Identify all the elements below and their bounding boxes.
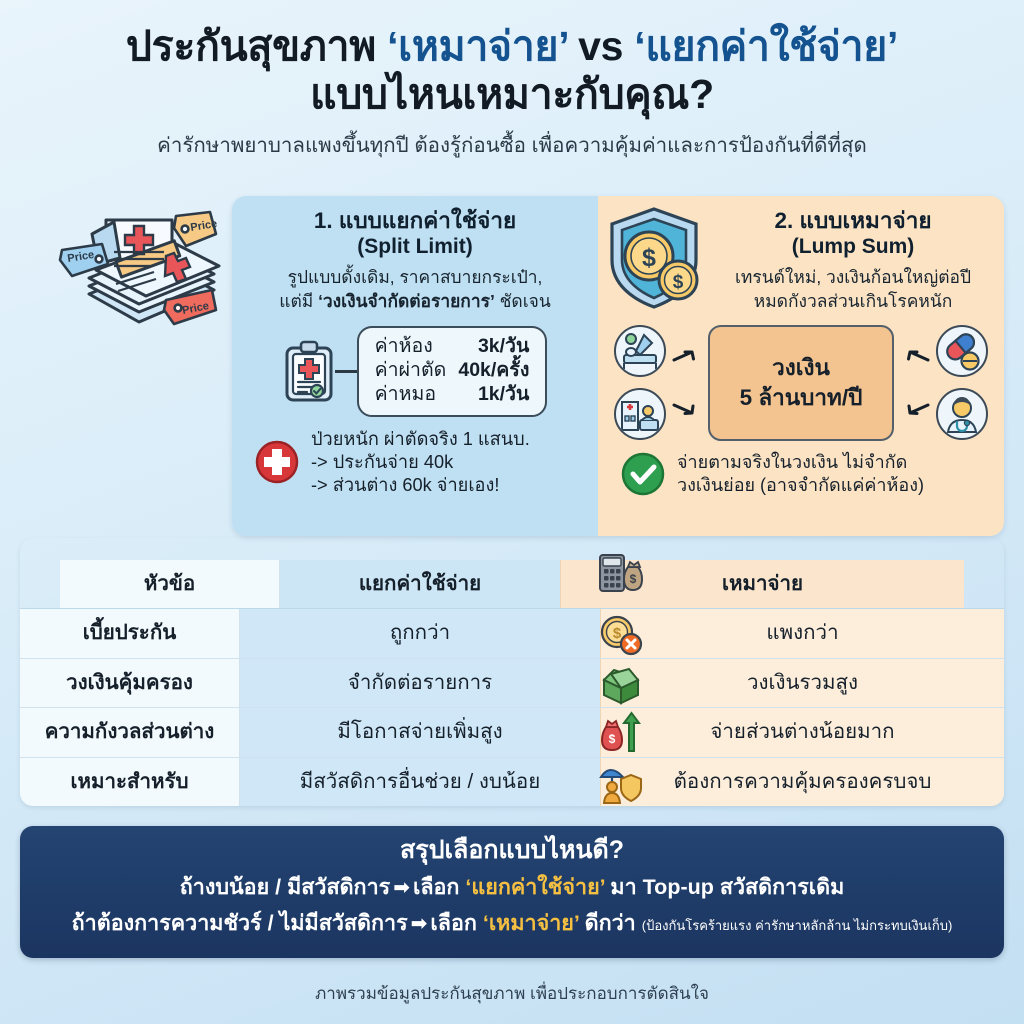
left-warning-text: ป่วยหนัก ผ่าตัดจริง 1 แสนบ. -> ประกันจ่า… (311, 428, 530, 497)
row-topic: เหมาะสำหรับ (20, 758, 240, 806)
row-split-value: มีสวัสดิการอื่นช่วย / งบน้อย (240, 758, 600, 806)
sum-box-line-2: 5 ล้านบาท/ปี (740, 383, 863, 412)
row-topic: เบี้ยประกัน (20, 609, 240, 657)
doctor-icon (936, 388, 988, 440)
pills-icon (936, 325, 988, 377)
row-lump-value: จ่ายส่วนต่างน้อยมาก (600, 708, 1004, 756)
limit-label-room: ค่าห้อง (375, 335, 459, 359)
title-highlight-split-limit: ‘แยกค่าใช้จ่าย’ (634, 23, 898, 69)
summary-l2-condition: ถ้าต้องการความชัวร์ / ไม่มีสวัสดิการ (72, 911, 408, 935)
row-topic: วงเงินคุ้มครอง (20, 659, 240, 707)
panel-left-title-th: 1. แบบแยกค่าใช้จ่าย (314, 208, 516, 233)
desc2-post: ชัดเจน (495, 291, 551, 311)
panel-right-desc-line2: หมดกังวลส่วนเกินโรคหนัก (718, 290, 988, 313)
limit-box: ค่าห้อง 3k/วัน ค่าผ่าตัด 40k/ครั้ง ค่าหม… (357, 326, 548, 417)
table-header-topic: หัวข้อ (60, 560, 280, 608)
desc2-bold: ‘วงเงินจำกัดต่อรายการ’ (318, 291, 495, 311)
arrow-left-icon (900, 399, 930, 419)
infographic-page: ประกันสุขภาพ ‘เหมาจ่าย’ vs ‘แยกค่าใช้จ่า… (0, 0, 1024, 1024)
table-row: ความกังวลส่วนต่าง มีโอกาสจ่ายเพิ่มสูง จ่… (20, 708, 1004, 757)
panel-left-title: 1. แบบแยกค่าใช้จ่าย (Split Limit) (248, 208, 582, 259)
summary-l2-action: เลือก (430, 911, 482, 935)
page-title-line-1: ประกันสุขภาพ ‘เหมาจ่าย’ vs ‘แยกค่าใช้จ่า… (40, 22, 984, 70)
lump-sum-flow-diagram: วงเงิน 5 ล้านบาท/ปี (614, 325, 988, 441)
title-part-1: ประกันสุขภาพ (126, 23, 387, 69)
medical-bills-icon: Price Price Price (54, 202, 224, 352)
panel-right-description: เทรนด์ใหม่, วงเงินก้อนใหญ่ต่อปี หมดกังวล… (718, 266, 988, 312)
summary-title: สรุปเลือกแบบไหนดี? (38, 835, 986, 866)
panel-right-title-th: 2. แบบเหมาจ่าย (774, 208, 931, 233)
arrow-right-icon: ➡ (408, 913, 431, 935)
summary-line-2: ถ้าต้องการความชัวร์ / ไม่มีสวัสดิการ➡เลื… (38, 910, 986, 938)
svg-text:$: $ (642, 244, 656, 272)
flow-right-icons (936, 325, 988, 440)
title-vs: vs (568, 23, 634, 69)
summary-l2-tail: ดีกว่า (579, 911, 641, 935)
table-row: เหมาะสำหรับ มีสวัสดิการอื่นช่วย / งบน้อย… (20, 758, 1004, 806)
limit-value-surgery: 40k/ครั้ง (458, 359, 529, 383)
panel-split-limit: 1. แบบแยกค่าใช้จ่าย (Split Limit) รูปแบบ… (232, 196, 598, 536)
limit-value-doctor: 1k/วัน (458, 383, 529, 407)
row-split-value: ถูกกว่า (240, 609, 600, 657)
arrow-left-icon (900, 346, 930, 366)
comparison-table: หัวข้อ แยกค่าใช้จ่าย เหมาจ่าย $ (20, 538, 1004, 806)
medical-cross-circle-icon (254, 439, 300, 485)
summary-box: สรุปเลือกแบบไหนดี? ถ้างบน้อย / มีสวัสดิก… (20, 826, 1004, 958)
right-benefit-note: จ่ายตามจริงในวงเงิน ไม่จำกัด วงเงินย่อย … (614, 451, 988, 497)
panel-right-desc-line1: เทรนด์ใหม่, วงเงินก้อนใหญ่ต่อปี (718, 266, 988, 289)
flow-left-icons (614, 325, 666, 440)
title-highlight-lump-sum: ‘เหมาจ่าย’ (387, 23, 568, 69)
connector-line (335, 370, 357, 373)
warning-line-1: ป่วยหนัก ผ่าตัดจริง 1 แสนบ. (311, 428, 530, 451)
summary-line-1: ถ้างบน้อย / มีสวัสดิการ➡เลือก ‘แยกค่าใช้… (38, 874, 986, 902)
warning-line-2: -> ประกันจ่าย 40k (311, 451, 530, 474)
summary-l1-condition: ถ้างบน้อย / มีสวัสดิการ (180, 875, 390, 899)
footer-note: ภาพรวมข้อมูลประกันสุขภาพ เพื่อประกอบการต… (0, 980, 1024, 1007)
page-title-line-2: แบบไหนเหมาะกับคุณ? (40, 70, 984, 118)
arrow-right-icon (672, 399, 702, 419)
desc2-pre: แต่มี (279, 291, 318, 311)
row-lump-value: ต้องการความคุ้มครองครบจบ (600, 758, 1004, 806)
clipboard-medical-icon (283, 340, 335, 402)
table-header-lump: เหมาจ่าย (560, 560, 964, 608)
benefit-line-2: วงเงินย่อย (อาจจำกัดแค่ค่าห้อง) (677, 474, 924, 497)
arrow-right-icon: ➡ (390, 877, 413, 899)
summary-l1-highlight: ‘แยกค่าใช้จ่าย’ (465, 875, 605, 899)
surgery-bed-icon (614, 325, 666, 377)
flow-arrows-left (670, 346, 704, 419)
table-header-split: แยกค่าใช้จ่าย (280, 560, 560, 608)
summary-l2-small-note: (ป้องกันโรคร้ายแรง ค่ารักษาหลักล้าน ไม่ก… (642, 918, 953, 933)
warning-line-3: -> ส่วนต่าง 60k จ่ายเอง! (311, 474, 530, 497)
comparison-panels: 1. แบบแยกค่าใช้จ่าย (Split Limit) รูปแบบ… (232, 196, 1004, 536)
panel-right-head: 2. แบบเหมาจ่าย (Lump Sum) เทรนด์ใหม่, วง… (718, 208, 988, 313)
limit-value-room: 3k/วัน (458, 335, 529, 359)
limit-item-doctor: ค่าหมอ 1k/วัน (375, 383, 530, 407)
panel-right-title: 2. แบบเหมาจ่าย (Lump Sum) (718, 208, 988, 259)
limit-breakdown: ค่าห้อง 3k/วัน ค่าผ่าตัด 40k/ครั้ง ค่าหม… (248, 326, 582, 417)
panel-left-desc-line1: รูปแบบดั้งเดิม, ราคาสบายกระเป๋า, (248, 266, 582, 289)
summary-l1-action: เลือก (413, 875, 465, 899)
panel-left-desc-line2: แต่มี ‘วงเงินจำกัดต่อรายการ’ ชัดเจน (248, 290, 582, 313)
row-lump-value: วงเงินรวมสูง (600, 659, 1004, 707)
sum-box-line-1: วงเงิน (772, 353, 830, 382)
header: ประกันสุขภาพ ‘เหมาจ่าย’ vs ‘แยกค่าใช้จ่า… (0, 0, 1024, 162)
limit-item-surgery: ค่าผ่าตัด 40k/ครั้ง (375, 359, 530, 383)
row-split-value: มีโอกาสจ่ายเพิ่มสูง (240, 708, 600, 756)
flow-arrows-right (898, 346, 932, 419)
benefit-line-1: จ่ายตามจริงในวงเงิน ไม่จำกัด (677, 451, 924, 474)
shield-coins-icon: $ $ (604, 204, 704, 312)
table-row: เบี้ยประกัน ถูกกว่า แพงกว่า $ (20, 609, 1004, 658)
page-subtitle: ค่ารักษาพยาบาลแพงขึ้นทุกปี ต้องรู้ก่อนซื… (40, 129, 984, 162)
summary-l1-tail: มา Top-up สวัสดิการเดิม (605, 875, 844, 899)
coverage-sum-box: วงเงิน 5 ล้านบาท/ปี (708, 325, 894, 441)
right-benefit-text: จ่ายตามจริงในวงเงิน ไม่จำกัด วงเงินย่อย … (677, 451, 924, 497)
limit-item-room: ค่าห้อง 3k/วัน (375, 335, 530, 359)
left-warning-note: ป่วยหนัก ผ่าตัดจริง 1 แสนบ. -> ประกันจ่า… (248, 428, 582, 497)
check-circle-icon (620, 451, 666, 497)
arrow-right-icon (672, 346, 702, 366)
panel-right-title-en: (Lump Sum) (718, 235, 988, 259)
table-row: วงเงินคุ้มครอง จำกัดต่อรายการ วงเงินรวมส… (20, 659, 1004, 708)
hospital-patient-icon (614, 388, 666, 440)
svg-text:$: $ (673, 272, 684, 293)
table-header-row: หัวข้อ แยกค่าใช้จ่าย เหมาจ่าย $ (20, 538, 1004, 609)
row-split-value: จำกัดต่อรายการ (240, 659, 600, 707)
row-lump-value: แพงกว่า (600, 609, 1004, 657)
panel-left-title-en: (Split Limit) (248, 235, 582, 259)
row-topic: ความกังวลส่วนต่าง (20, 708, 240, 756)
limit-label-doctor: ค่าหมอ (375, 383, 459, 407)
panel-lump-sum: $ $ 2. แบบเหมาจ่าย (Lump Sum) เทรนด์ใหม่… (598, 196, 1004, 536)
panel-left-description: รูปแบบดั้งเดิม, ราคาสบายกระเป๋า, แต่มี ‘… (248, 266, 582, 312)
summary-l2-highlight: ‘เหมาจ่าย’ (483, 911, 579, 935)
limit-label-surgery: ค่าผ่าตัด (375, 359, 459, 383)
